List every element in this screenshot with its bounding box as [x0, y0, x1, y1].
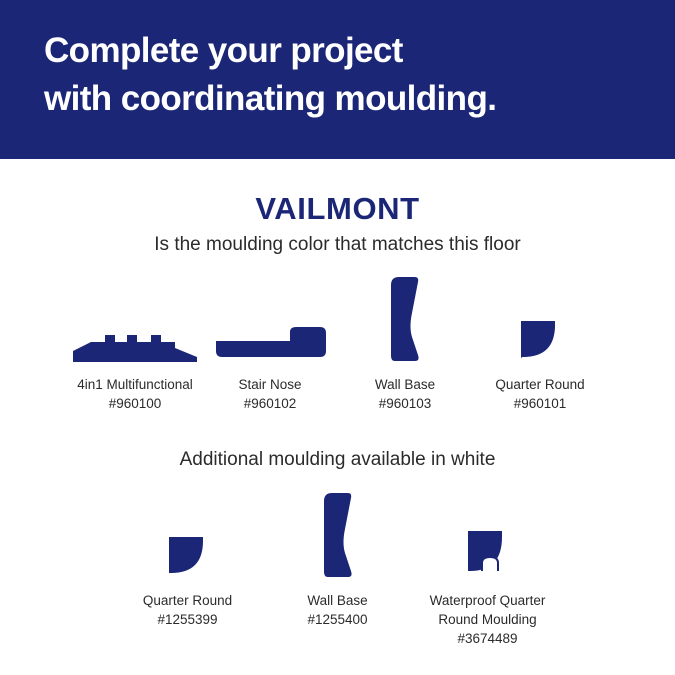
color-name-title: VAILMONT [0, 191, 675, 227]
moulding-item-quarter-round[interactable]: Quarter Round #960101 [473, 271, 608, 413]
moulding-name-line-2: Round Moulding [430, 610, 546, 629]
moulding-name: Quarter Round [495, 377, 584, 392]
moulding-waterproof-quarter-round-profile-icon [420, 487, 555, 579]
color-subtitle: Is the moulding color that matches this … [0, 234, 675, 256]
moulding-sku: #1255399 [143, 610, 232, 629]
white-moulding-row: Quarter Round #1255399 Wall Base #125540… [0, 487, 675, 648]
banner-headline-line-2: with coordinating moulding. [44, 75, 496, 123]
moulding-sku: #960101 [495, 394, 584, 413]
banner-headline-line-1: Complete your project [44, 27, 496, 75]
moulding-name: 4in1 Multifunctional [77, 377, 193, 392]
moulding-caption: Stair Nose #960102 [238, 375, 301, 413]
moulding-sku: #960102 [238, 394, 301, 413]
header-banner: Complete your project with coordinating … [0, 0, 675, 159]
moulding-name-line-1: Waterproof Quarter [430, 593, 546, 608]
moulding-caption: Waterproof Quarter Round Moulding #36744… [430, 591, 546, 648]
white-section-title: Additional moulding available in white [0, 449, 675, 471]
moulding-caption: 4in1 Multifunctional #960100 [77, 375, 193, 413]
moulding-caption: Wall Base #960103 [375, 375, 435, 413]
moulding-sku: #960103 [375, 394, 435, 413]
moulding-item-4in1[interactable]: 4in1 Multifunctional #960100 [68, 271, 203, 413]
moulding-item-stair-nose[interactable]: Stair Nose #960102 [203, 271, 338, 413]
moulding-sku: #1255400 [307, 610, 367, 629]
moulding-4in1-profile-icon [68, 271, 203, 363]
banner-headline: Complete your project with coordinating … [44, 27, 496, 123]
moulding-sku: #3674489 [430, 629, 546, 648]
moulding-caption: Quarter Round #960101 [495, 375, 584, 413]
moulding-item-quarter-round-white[interactable]: Quarter Round #1255399 [113, 487, 263, 629]
moulding-stair-nose-profile-icon [203, 271, 338, 363]
moulding-caption: Wall Base #1255400 [307, 591, 367, 629]
moulding-name: Wall Base [375, 377, 435, 392]
moulding-sku: #960100 [77, 394, 193, 413]
moulding-caption: Quarter Round #1255399 [143, 591, 232, 629]
colored-moulding-row: 4in1 Multifunctional #960100 Stair Nose … [0, 271, 675, 413]
moulding-item-waterproof-quarter-round[interactable]: Waterproof Quarter Round Moulding #36744… [413, 487, 563, 648]
moulding-wall-base-profile-icon [270, 487, 405, 579]
moulding-name: Stair Nose [238, 377, 301, 392]
moulding-name: Wall Base [307, 593, 367, 608]
content-area: VAILMONT Is the moulding color that matc… [0, 159, 675, 675]
moulding-item-wall-base-white[interactable]: Wall Base #1255400 [263, 487, 413, 629]
moulding-wall-base-profile-icon [338, 271, 473, 363]
moulding-item-wall-base[interactable]: Wall Base #960103 [338, 271, 473, 413]
promo-page: Complete your project with coordinating … [0, 0, 675, 675]
moulding-name: Quarter Round [143, 593, 232, 608]
moulding-quarter-round-profile-icon [120, 487, 255, 579]
moulding-quarter-round-profile-icon [473, 271, 608, 363]
